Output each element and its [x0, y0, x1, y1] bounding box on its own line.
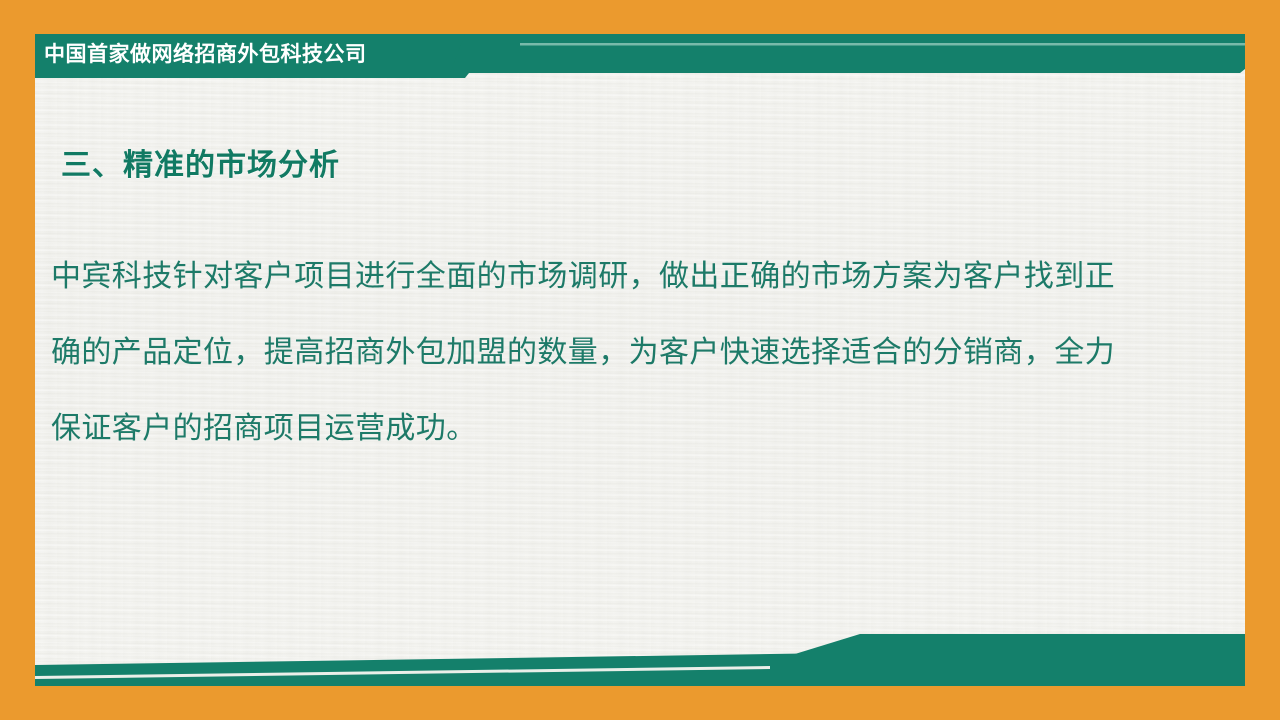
header-left-rail — [0, 0, 35, 110]
footer-left-rail — [0, 610, 35, 720]
footer-right-rail — [1245, 610, 1280, 720]
paragraph-line-1: 中宾科技针对客户项目进行全面的市场调研，做出正确的市场方案为客户找到正 — [51, 239, 1231, 315]
slide-content: 三、精准的市场分析 中宾科技针对客户项目进行全面的市场调研，做出正确的市场方案为… — [35, 34, 1245, 686]
slide-canvas: 中国首家做网络招商外包科技公司 三、精准的市场分析 中宾科技针对客户项目进行全面… — [0, 0, 1280, 720]
section-title: 三、精准的市场分析 — [61, 140, 340, 184]
footer-bottom-rail — [0, 686, 1280, 720]
header-right-rail — [1245, 0, 1280, 110]
header-top-rail — [0, 0, 1280, 34]
paragraph-line-2: 确的产品定位，提高招商外包加盟的数量，为客户快速选择适合的分销商，全力 — [51, 315, 1231, 391]
paragraph-line-3: 保证客户的招商项目运营成功。 — [51, 391, 1231, 467]
body-paragraph: 中宾科技针对客户项目进行全面的市场调研，做出正确的市场方案为客户找到正 确的产品… — [51, 239, 1231, 467]
